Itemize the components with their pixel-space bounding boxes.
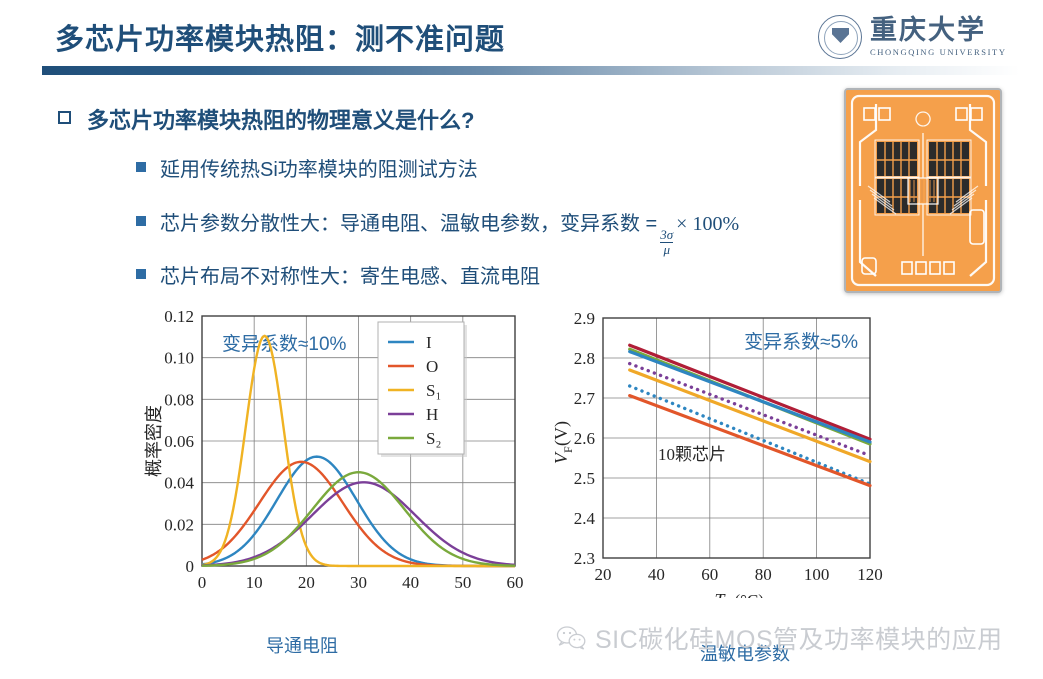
svg-text:20: 20	[298, 573, 315, 592]
list-item: 芯片布局不对称性大：寄生电感、直流电阻	[136, 260, 540, 289]
vf-temperature-plot: 204060801001202.32.42.52.62.72.82.9VF(V)…	[545, 308, 885, 598]
logo-name-en: CHONGQING UNIVERSITY	[870, 47, 1007, 57]
svg-text:60: 60	[507, 573, 524, 592]
svg-text:10: 10	[246, 573, 263, 592]
rdson-distribution-plot: 010203040506000.020.040.060.080.100.12概率…	[140, 308, 530, 598]
svg-text:2.9: 2.9	[574, 309, 595, 328]
chart-right-caption: 温敏电参数	[700, 640, 790, 666]
question-bullet: 多芯片功率模块热阻的物理意义是什么?	[58, 103, 474, 135]
svg-text:F: F	[561, 446, 575, 453]
svg-text:0.08: 0.08	[164, 390, 194, 409]
chart-left-caption: 导通电阻	[266, 632, 338, 658]
svg-text:S₁: S₁	[426, 381, 441, 400]
coefficient-fraction: 3σμ	[660, 228, 673, 257]
svg-text:20: 20	[595, 565, 612, 584]
list-item: 芯片参数分散性大：导通电阻、温敏电参数，变异系数 =3σμ× 100%	[136, 207, 739, 257]
svg-text:2.8: 2.8	[574, 349, 595, 368]
svg-text:H: H	[426, 405, 438, 424]
university-logo: 重庆大学 CHONGQING UNIVERSITY	[818, 11, 1018, 63]
svg-text:2.4: 2.4	[574, 509, 596, 528]
svg-text:0.06: 0.06	[164, 432, 194, 451]
svg-text:(°C): (°C)	[735, 591, 764, 598]
page-title: 多芯片功率模块热阻：测不准问题	[55, 16, 505, 58]
svg-text:0.02: 0.02	[164, 515, 194, 534]
svg-text:0: 0	[186, 557, 195, 576]
svg-text:S₂: S₂	[426, 429, 441, 448]
list-item-label: 芯片布局不对称性大：寄生电感、直流电阻	[160, 260, 540, 289]
svg-text:(V): (V)	[551, 421, 572, 446]
square-filled-bullet-icon	[136, 269, 146, 279]
svg-text:0.04: 0.04	[164, 474, 194, 493]
square-outline-bullet-icon	[58, 111, 71, 124]
question-text: 多芯片功率模块热阻的物理意义是什么?	[87, 103, 474, 135]
svg-text:T: T	[715, 590, 727, 598]
svg-text:2.3: 2.3	[574, 549, 595, 568]
list-item-label: 芯片参数分散性大：导通电阻、温敏电参数，变异系数 =3σμ× 100%	[160, 207, 739, 257]
svg-text:120: 120	[857, 565, 883, 584]
square-filled-bullet-icon	[136, 216, 146, 226]
list-item-text-post: × 100%	[676, 213, 739, 235]
svg-text:40: 40	[402, 573, 419, 592]
university-seal-icon	[818, 15, 862, 59]
logo-name-cn: 重庆大学	[870, 17, 1007, 44]
svg-text:30: 30	[350, 573, 367, 592]
svg-text:概率密度: 概率密度	[144, 405, 164, 477]
logo-text-block: 重庆大学 CHONGQING UNIVERSITY	[870, 17, 1007, 57]
svg-text:100: 100	[804, 565, 830, 584]
list-item-label: 延用传统热Si功率模块的阻测试方法	[160, 153, 478, 182]
wechat-icon	[556, 625, 586, 651]
title-divider	[42, 66, 1020, 75]
svg-text:2.5: 2.5	[574, 469, 595, 488]
svg-text:O: O	[426, 357, 438, 376]
square-filled-bullet-icon	[136, 162, 146, 172]
power-module-image	[844, 88, 1002, 293]
power-module-layout-svg	[846, 90, 1000, 291]
svg-text:2.7: 2.7	[574, 389, 596, 408]
svg-text:50: 50	[454, 573, 471, 592]
watermark-text: SIC碳化硅MOS管及功率模块的应用	[595, 620, 1003, 656]
svg-text:40: 40	[648, 565, 665, 584]
list-item-text-pre: 芯片参数分散性大：导通电阻、温敏电参数，变异系数 =	[160, 213, 657, 235]
svg-text:0.10: 0.10	[164, 349, 194, 368]
chart-rdson-distribution: 010203040506000.020.040.060.080.100.12概率…	[140, 308, 530, 598]
chart-vf-temperature: 204060801001202.32.42.52.62.72.82.9VF(V)…	[545, 308, 885, 598]
svg-text:10颗芯片: 10颗芯片	[658, 445, 726, 464]
svg-text:变异系数≈5%: 变异系数≈5%	[744, 331, 858, 353]
list-item: 延用传统热Si功率模块的阻测试方法	[136, 153, 478, 182]
fraction-denominator: μ	[663, 243, 670, 257]
svg-text:60: 60	[701, 565, 718, 584]
svg-text:0: 0	[198, 573, 207, 592]
svg-text:0.12: 0.12	[164, 308, 194, 326]
svg-text:变异系数≈10%: 变异系数≈10%	[222, 333, 347, 355]
svg-text:I: I	[426, 333, 432, 352]
fraction-numerator: 3σ	[660, 228, 673, 242]
svg-text:80: 80	[755, 565, 772, 584]
svg-text:2.6: 2.6	[574, 429, 595, 448]
